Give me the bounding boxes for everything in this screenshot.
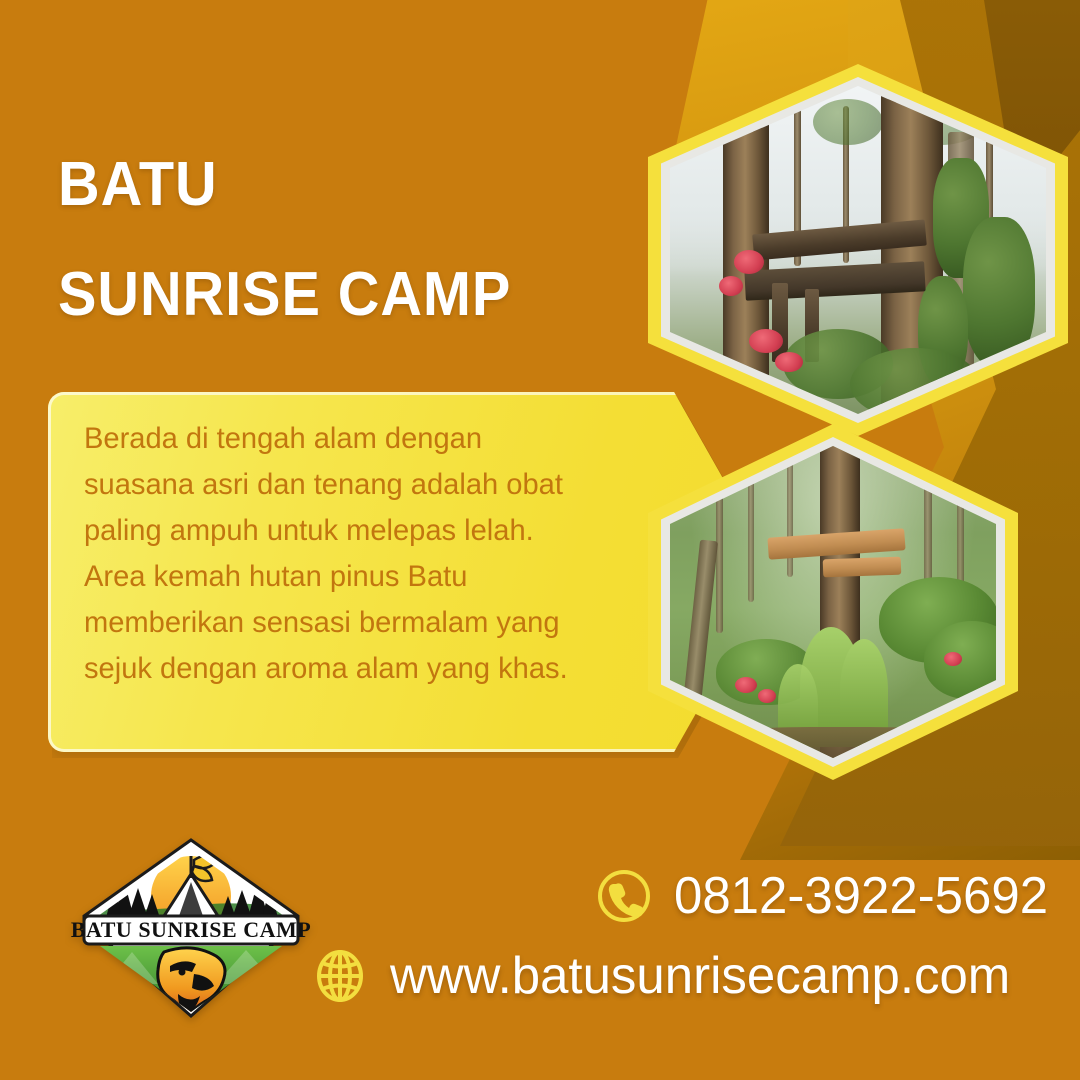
foliage — [813, 99, 883, 145]
forest-bench-scene — [670, 86, 1046, 414]
red-flower — [735, 677, 757, 693]
hex-photo-bottom — [670, 446, 996, 758]
hex-inner-border-top — [661, 77, 1055, 423]
phone-icon — [596, 868, 652, 924]
logo-svg: BATU SUNRISE CAMP — [66, 834, 316, 1024]
phone-number: 0812-3922-5692 — [674, 866, 1048, 926]
page-title: BATU SUNRISE CAMP — [58, 130, 635, 350]
poster-canvas: BATU SUNRISE CAMP Berada di tengah alam … — [0, 0, 1080, 1080]
logo-badge[interactable]: BATU SUNRISE CAMP — [66, 834, 316, 1024]
red-flower — [734, 250, 764, 274]
contact-phone-row[interactable]: 0812-3922-5692 — [596, 866, 1056, 926]
hex-photo-top — [670, 86, 1046, 414]
contact-website-row[interactable]: www.batusunrisecamp.com — [312, 946, 1023, 1006]
red-flower — [775, 352, 803, 372]
logo-name-text: BATU SUNRISE CAMP — [71, 917, 311, 942]
hex-inner-border-bottom — [661, 437, 1005, 767]
description-text: Berada di tengah alam dengan suasana asr… — [84, 416, 598, 692]
badge-lower-scene — [84, 944, 298, 1016]
forest-signpost-scene — [670, 446, 996, 758]
red-flower — [749, 329, 783, 353]
title-line-2: SUNRISE CAMP — [58, 240, 635, 350]
direction-sign — [823, 557, 902, 578]
red-flower — [944, 652, 962, 666]
website-url: www.batusunrisecamp.com — [390, 946, 1010, 1006]
tree-trunk — [748, 458, 754, 602]
globe-icon — [312, 948, 368, 1004]
red-flower — [719, 276, 743, 296]
eagle-head-icon — [158, 948, 225, 1016]
title-line-1: BATU — [58, 130, 635, 240]
ivy-foliage — [963, 217, 1035, 367]
